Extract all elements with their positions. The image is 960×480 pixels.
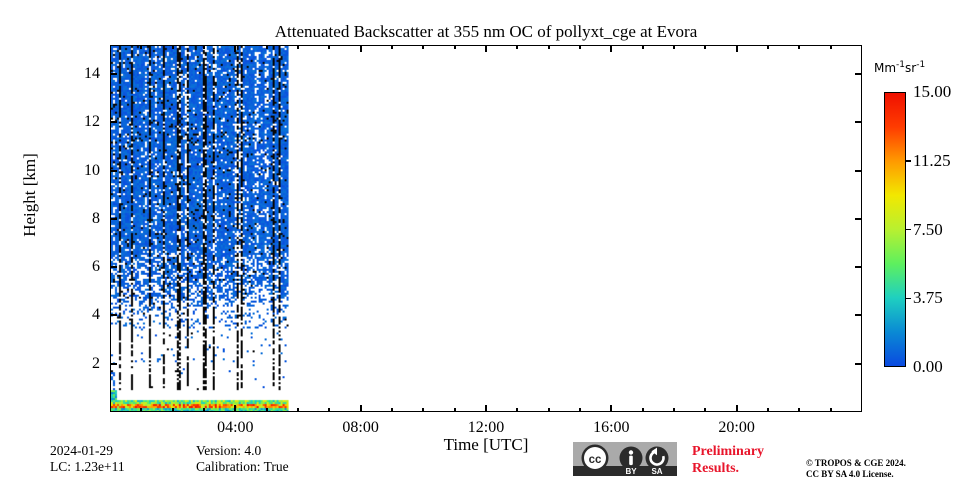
x-minor-tick-bottom [579,408,581,412]
colorbar-tick-label: 15.00 [913,83,951,100]
colorbar-tick [906,160,911,162]
svg-text:cc: cc [589,454,602,466]
y-tick-left [110,314,117,316]
y-tick-label: 12 [60,114,100,130]
x-minor-tick-top [266,45,268,49]
y-tick-right [855,170,862,172]
colorbar-tick-label: 7.50 [913,221,943,238]
colorbar-unit-sr-exp: -1 [916,60,925,70]
colorbar-tick-label: 0.00 [913,358,943,375]
y-tick-label: 8 [60,211,100,227]
x-minor-tick-bottom [203,408,205,412]
colorbar-gradient [884,92,906,367]
copyright-line-1: © TROPOS & CGE 2024. [806,458,906,469]
y-tick-left [110,218,117,220]
x-minor-tick-bottom [422,408,424,412]
x-minor-tick-top [391,45,393,49]
x-minor-tick-top [704,45,706,49]
x-minor-tick-top [328,45,330,49]
x-tick-top [360,45,362,52]
y-tick-left [110,121,117,123]
x-minor-tick-top [767,45,769,49]
x-minor-tick-top [140,45,142,49]
x-minor-tick-top [798,45,800,49]
y-tick-label: 10 [60,163,100,179]
x-tick-bottom [485,405,487,412]
x-minor-tick-top [642,45,644,49]
x-minor-tick-bottom [798,408,800,412]
x-tick-bottom [234,405,236,412]
x-tick-label: 20:00 [697,420,777,436]
colorbar-unit-mm-exp: -1 [896,60,905,70]
x-tick-label: 16:00 [571,420,651,436]
x-minor-tick-top [548,45,550,49]
footer-date: 2024-01-29 [50,443,113,459]
x-minor-tick-bottom [548,408,550,412]
x-minor-tick-bottom [642,408,644,412]
footer-version: Version: 4.0 [196,443,261,459]
x-minor-tick-top [579,45,581,49]
footer-calibration: Calibration: True [196,459,289,475]
colorbar-tick [906,229,911,231]
x-tick-label: 08:00 [321,420,401,436]
figure-canvas: Attenuated Backscatter at 355 nm OC of p… [0,0,960,480]
y-tick-left [110,363,117,365]
colorbar-tick-label: 11.25 [913,152,951,169]
x-minor-tick-top [172,45,174,49]
x-minor-tick-bottom [454,408,456,412]
y-tick-label: 4 [60,307,100,323]
page-title: Attenuated Backscatter at 355 nm OC of p… [110,22,862,42]
y-tick-right [855,218,862,220]
y-tick-right [855,363,862,365]
x-minor-tick-top [516,45,518,49]
x-minor-tick-bottom [391,408,393,412]
x-minor-tick-bottom [328,408,330,412]
y-tick-right [855,121,862,123]
footer-lidar-constant: LC: 1.23e+11 [50,459,125,475]
x-minor-tick-top [673,45,675,49]
y-tick-label: 6 [60,259,100,275]
x-tick-bottom [360,405,362,412]
x-tick-top [234,45,236,52]
x-tick-top [610,45,612,52]
y-tick-right [855,266,862,268]
x-tick-bottom [610,405,612,412]
svg-text:SA: SA [651,467,662,476]
y-tick-left [110,73,117,75]
colorbar-unit-mm: Mm [874,61,896,75]
x-minor-tick-top [830,45,832,49]
x-minor-tick-top [203,45,205,49]
x-minor-tick-bottom [767,408,769,412]
colorbar-unit-label: Mm-1sr-1 [874,60,925,75]
x-minor-tick-top [454,45,456,49]
y-tick-label: 14 [60,66,100,82]
x-tick-top [736,45,738,52]
x-tick-bottom [736,405,738,412]
y-tick-left [110,170,117,172]
x-minor-tick-bottom [140,408,142,412]
y-tick-right [855,73,862,75]
preliminary-line-2: Results. [692,460,764,477]
x-tick-label: 12:00 [446,420,526,436]
preliminary-line-1: Preliminary [692,443,764,460]
y-tick-right [855,314,862,316]
y-tick-left [110,266,117,268]
x-minor-tick-bottom [516,408,518,412]
x-minor-tick-bottom [297,408,299,412]
colorbar-unit-sr: sr [905,61,916,75]
plot-axes[interactable] [110,45,862,412]
x-tick-label: 04:00 [195,420,275,436]
x-minor-tick-bottom [172,408,174,412]
copyright-line-2: CC BY SA 4.0 License. [806,469,894,480]
colorbar-tick-label: 3.75 [913,289,943,306]
backscatter-heatmap [111,46,861,411]
x-minor-tick-bottom [266,408,268,412]
x-minor-tick-bottom [704,408,706,412]
svg-text:BY: BY [625,467,637,476]
x-minor-tick-top [297,45,299,49]
y-tick-label: 2 [60,356,100,372]
colorbar[interactable]: 15.0011.257.503.750.00 [884,92,906,367]
preliminary-results-note: Preliminary Results. [692,443,764,477]
x-minor-tick-bottom [673,408,675,412]
y-axis-title: Height [km] [20,105,40,285]
cc-by-sa-badge-icon[interactable]: cc BY SA [573,442,677,476]
x-minor-tick-top [422,45,424,49]
colorbar-tick [906,298,911,300]
x-tick-top [485,45,487,52]
x-minor-tick-bottom [830,408,832,412]
